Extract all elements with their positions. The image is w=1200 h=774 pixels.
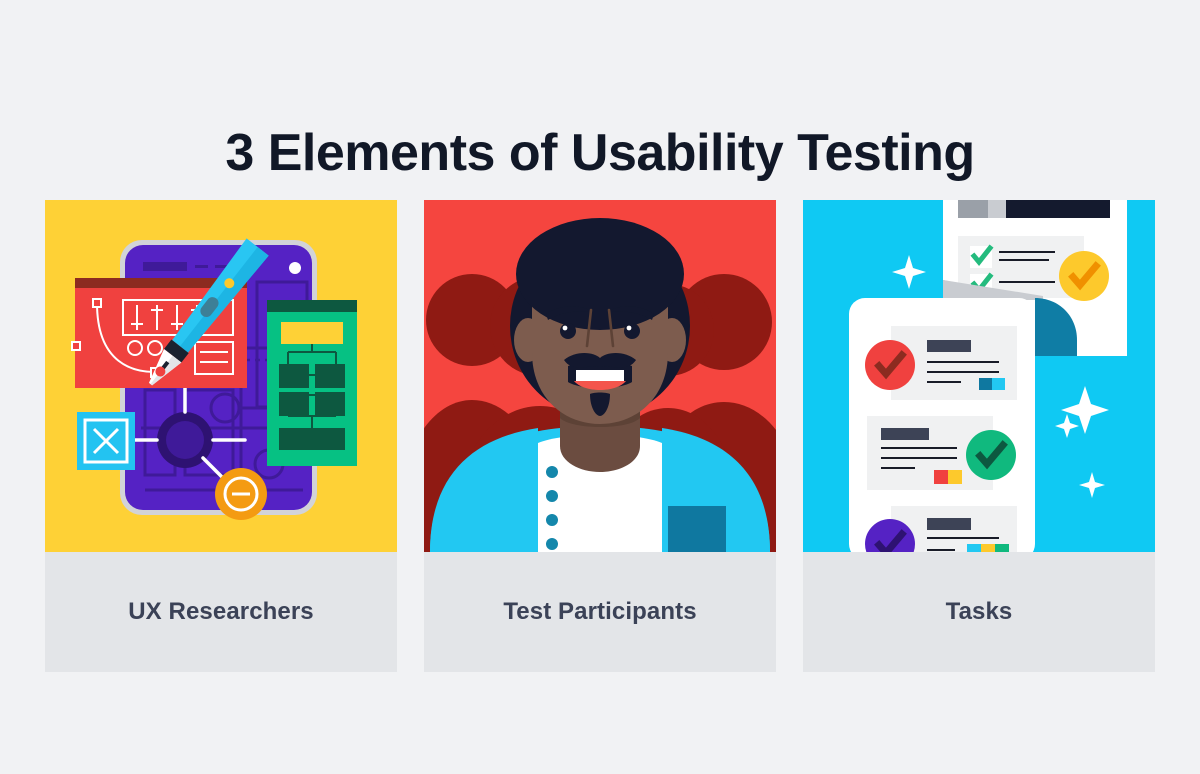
ux-researchers-illustration xyxy=(45,200,397,552)
test-participants-art-svg xyxy=(424,200,776,552)
card-caption-test-participants: Test Participants xyxy=(424,552,776,672)
poster-canvas: 3 Elements of Usability Testing xyxy=(0,0,1200,774)
cards-row: UX Researchers xyxy=(45,200,1155,672)
test-participants-illustration xyxy=(424,200,776,552)
card-tasks[interactable]: Tasks xyxy=(803,200,1155,672)
card-caption-tasks: Tasks xyxy=(803,552,1155,672)
tasks-art-svg xyxy=(803,200,1155,552)
tasks-illustration xyxy=(803,200,1155,552)
card-ux-researchers[interactable]: UX Researchers xyxy=(45,200,397,672)
card-caption-ux-researchers: UX Researchers xyxy=(45,552,397,672)
page-title: 3 Elements of Usability Testing xyxy=(0,125,1200,182)
ux-researchers-art-svg xyxy=(45,200,397,552)
card-test-participants[interactable]: Test Participants xyxy=(424,200,776,672)
